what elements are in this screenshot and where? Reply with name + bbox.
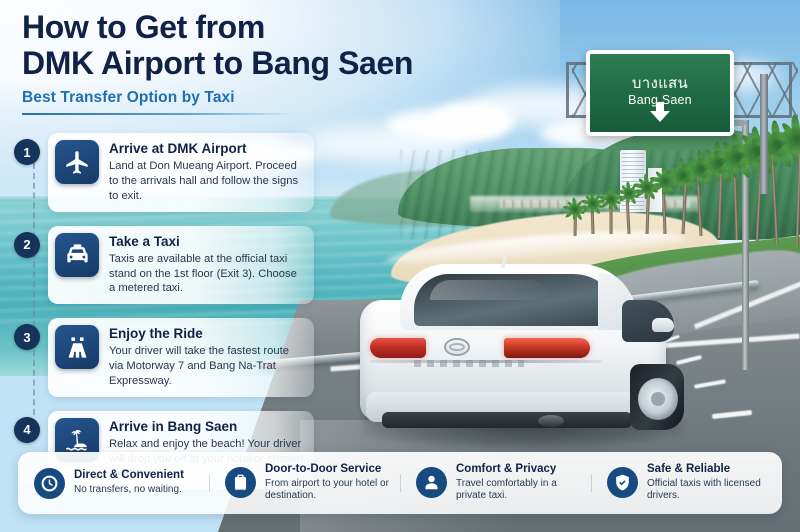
wheel-rim (638, 378, 678, 420)
step-description: Land at Don Mueang Airport. Proceed to t… (109, 159, 304, 203)
benefit-item: Safe & Reliable Official taxis with lice… (591, 463, 782, 503)
benefit-text: Direct & Convenient No transfers, no wai… (74, 469, 184, 497)
page-subtitle: Best Transfer Option by Taxi (22, 89, 542, 107)
step-text: Take a Taxi Taxis are available at the o… (109, 233, 304, 297)
title-line-1: How to Get from (22, 10, 542, 46)
step-title: Take a Taxi (109, 234, 304, 250)
benefit-description: From airport to your hotel or destinatio… (265, 478, 392, 504)
step-description: Taxis are available at the official taxi… (109, 252, 304, 296)
benefit-title: Comfort & Privacy (456, 463, 583, 477)
step-number-badge: 2 (14, 232, 40, 258)
step-title: Arrive at DMK Airport (109, 141, 304, 157)
motorway-icon (55, 325, 99, 369)
white-taxi-car (352, 252, 682, 452)
step-number-badge: 1 (14, 139, 40, 165)
exhaust-pipe (538, 415, 564, 427)
taxi-icon (55, 233, 99, 277)
airplane-icon (55, 140, 99, 184)
step-card: Enjoy the Ride Your driver will take the… (48, 318, 314, 397)
rear-windshield (414, 274, 620, 326)
step-card: Take a Taxi Taxis are available at the o… (48, 226, 314, 305)
benefit-description: No transfers, no waiting. (74, 484, 184, 497)
palm-tree (782, 136, 800, 246)
shield-check-icon (607, 467, 638, 498)
palm-tree (578, 200, 608, 234)
car-emblem (444, 338, 470, 356)
benefit-text: Comfort & Privacy Travel comfortably in … (456, 463, 583, 503)
steps-list: 1 Arrive at DMK Airport Land at Don Muea… (14, 133, 314, 489)
benefit-title: Door-to-Door Service (265, 463, 392, 477)
benefit-text: Safe & Reliable Official taxis with lice… (647, 463, 774, 503)
sign-board: บางแสน Bang Saen (586, 50, 734, 136)
step-item: 3 Enjoy the Ride Your driver will take t… (14, 318, 314, 397)
step-item: 2 Take a Taxi Taxis are available at the… (14, 226, 314, 305)
header: How to Get from DMK Airport to Bang Saen… (22, 10, 542, 115)
step-item: 1 Arrive at DMK Airport Land at Don Muea… (14, 133, 314, 212)
step-text: Arrive at DMK Airport Land at Don Mueang… (109, 140, 304, 204)
title-line-2: DMK Airport to Bang Saen (22, 46, 542, 82)
lower-bumper (382, 412, 632, 428)
step-text: Enjoy the Ride Your driver will take the… (109, 325, 304, 389)
person-icon (416, 467, 447, 498)
step-number-badge: 4 (14, 417, 40, 443)
benefit-title: Direct & Convenient (74, 469, 184, 483)
benefits-bar: Direct & Convenient No transfers, no wai… (18, 452, 782, 514)
sign-text-thai: บางแสน (632, 76, 688, 93)
benefit-text: Door-to-Door Service From airport to you… (265, 463, 392, 503)
side-mirror (652, 318, 674, 332)
benefit-description: Official taxis with licensed drivers. (647, 478, 774, 504)
benefit-item: Comfort & Privacy Travel comfortably in … (400, 463, 591, 503)
step-title: Enjoy the Ride (109, 326, 304, 342)
luggage-icon (225, 467, 256, 498)
sign-post (760, 74, 768, 194)
step-title: Arrive in Bang Saen (109, 419, 304, 435)
rear-wheel (630, 364, 684, 430)
benefit-description: Travel comfortably in a private taxi. (456, 478, 583, 504)
car-model-badge (414, 360, 524, 367)
benefit-item: Door-to-Door Service From airport to you… (209, 463, 400, 503)
step-number-badge: 3 (14, 324, 40, 350)
clock-icon (34, 468, 65, 499)
taillight (370, 338, 426, 358)
page-title: How to Get from DMK Airport to Bang Saen (22, 10, 542, 82)
taillight (504, 338, 590, 358)
benefit-title: Safe & Reliable (647, 463, 774, 477)
title-underline (22, 113, 294, 115)
step-description: Your driver will take the fastest route … (109, 344, 304, 388)
benefit-item: Direct & Convenient No transfers, no wai… (18, 468, 209, 499)
step-card: Arrive at DMK Airport Land at Don Mueang… (48, 133, 314, 212)
